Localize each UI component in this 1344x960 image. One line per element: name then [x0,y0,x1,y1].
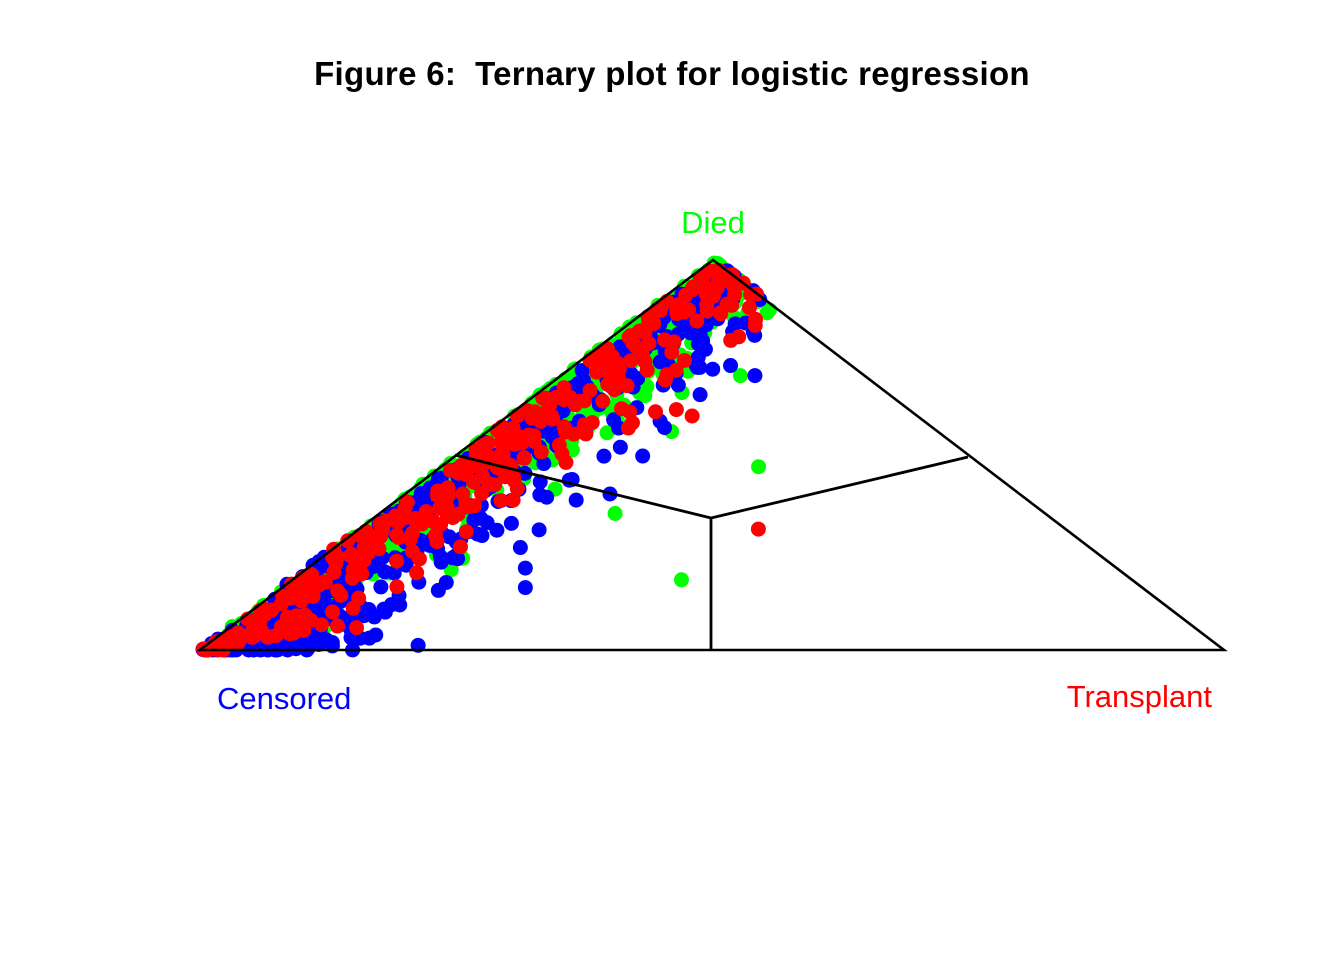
scatter-point [412,551,427,566]
scatter-point [685,409,700,424]
scatter-point [282,588,297,603]
scatter-point [613,440,628,455]
scatter-point [606,369,621,384]
scatter-point [373,579,388,594]
scatter-point [727,280,742,295]
scatter-point [521,428,536,443]
decision-boundary-lines [455,455,968,650]
scatter-point [723,333,738,348]
scatter-point [325,604,340,619]
scatter-point [657,420,672,435]
scatter-point [431,583,446,598]
figure-root: Figure 6: Ternary plot for logistic regr… [0,0,1344,960]
scatter-point [608,506,623,521]
scatter-point [532,522,547,537]
scatter-point [558,455,573,470]
scatter-point [534,444,549,459]
scatter-point [434,555,449,570]
scatter-point [513,540,528,555]
scatter-point [543,397,558,412]
scatter-point [689,314,704,329]
scatter-point [695,333,710,348]
scatter-point [378,605,393,620]
scatter-point [252,616,267,631]
scatter-point [751,459,766,474]
scatter-point [650,302,665,317]
scatter-point [475,528,490,543]
scatter-point [747,368,762,383]
scatter-point [748,318,763,333]
scatter-point [459,524,474,539]
scatter-point [405,526,420,541]
scatter-point [601,356,616,371]
scatter-point [569,493,584,508]
scatter-point [638,354,653,369]
scatter-point [572,394,587,409]
scatter-point [430,484,445,499]
scatter-point [620,378,635,393]
scatter-point [325,635,340,650]
scatter-point [389,527,404,542]
scatter-point [453,539,468,554]
vertex-label-censored: Censored [217,681,351,716]
scatter-point [345,571,360,586]
scatter-point [583,383,598,398]
scatter-point [317,574,332,589]
scatter-point [578,426,593,441]
scatter-point [517,451,532,466]
scatter-point [493,493,508,508]
scatter-point [664,345,679,360]
scatter-point [621,421,636,436]
scatter-point [409,565,424,580]
scatter-points-layer [196,256,777,658]
scatter-point [669,402,684,417]
ternary-plot: Died Censored Transplant [0,0,1344,960]
scatter-point [351,591,366,606]
scatter-point [379,513,394,528]
scatter-point [518,561,533,576]
scatter-point [280,610,295,625]
scatter-point [474,443,489,458]
scatter-point [306,589,321,604]
scatter-point [674,572,689,587]
scatter-point [510,481,525,496]
scatter-point [357,553,372,568]
scatter-point [507,437,522,452]
scatter-point [389,554,404,569]
scatter-point [433,517,448,532]
scatter-point [635,449,650,464]
scatter-point [491,449,506,464]
scatter-point [286,626,301,641]
scatter-point [455,458,470,473]
scatter-point [262,629,277,644]
scatter-point [596,449,611,464]
scatter-point [498,469,513,484]
scatter-point [623,353,638,368]
scatter-point [504,516,519,531]
scatter-point [330,619,345,634]
scatter-point [751,522,766,537]
scatter-point [641,336,656,351]
scatter-point [713,306,728,321]
scatter-point [595,394,610,409]
vertex-label-transplant: Transplant [1067,679,1213,714]
scatter-point [392,597,407,612]
scatter-point [539,490,554,505]
scatter-point [389,579,404,594]
scatter-point [480,515,495,530]
scatter-point [705,362,720,377]
scatter-point [627,337,642,352]
scatter-point [533,414,548,429]
scatter-point [723,358,738,373]
scatter-point [659,367,674,382]
scatter-point [518,580,533,595]
boundary-right-segment [711,457,968,518]
scatter-point [349,620,364,635]
scatter-point [461,499,476,514]
scatter-point [648,404,663,419]
vertex-label-died: Died [681,205,745,240]
scatter-point [372,526,387,541]
scatter-point [330,583,345,598]
scatter-point [693,387,708,402]
scatter-point [474,486,489,501]
scatter-point [398,501,413,516]
scatter-point [671,378,686,393]
scatter-point [552,438,567,453]
